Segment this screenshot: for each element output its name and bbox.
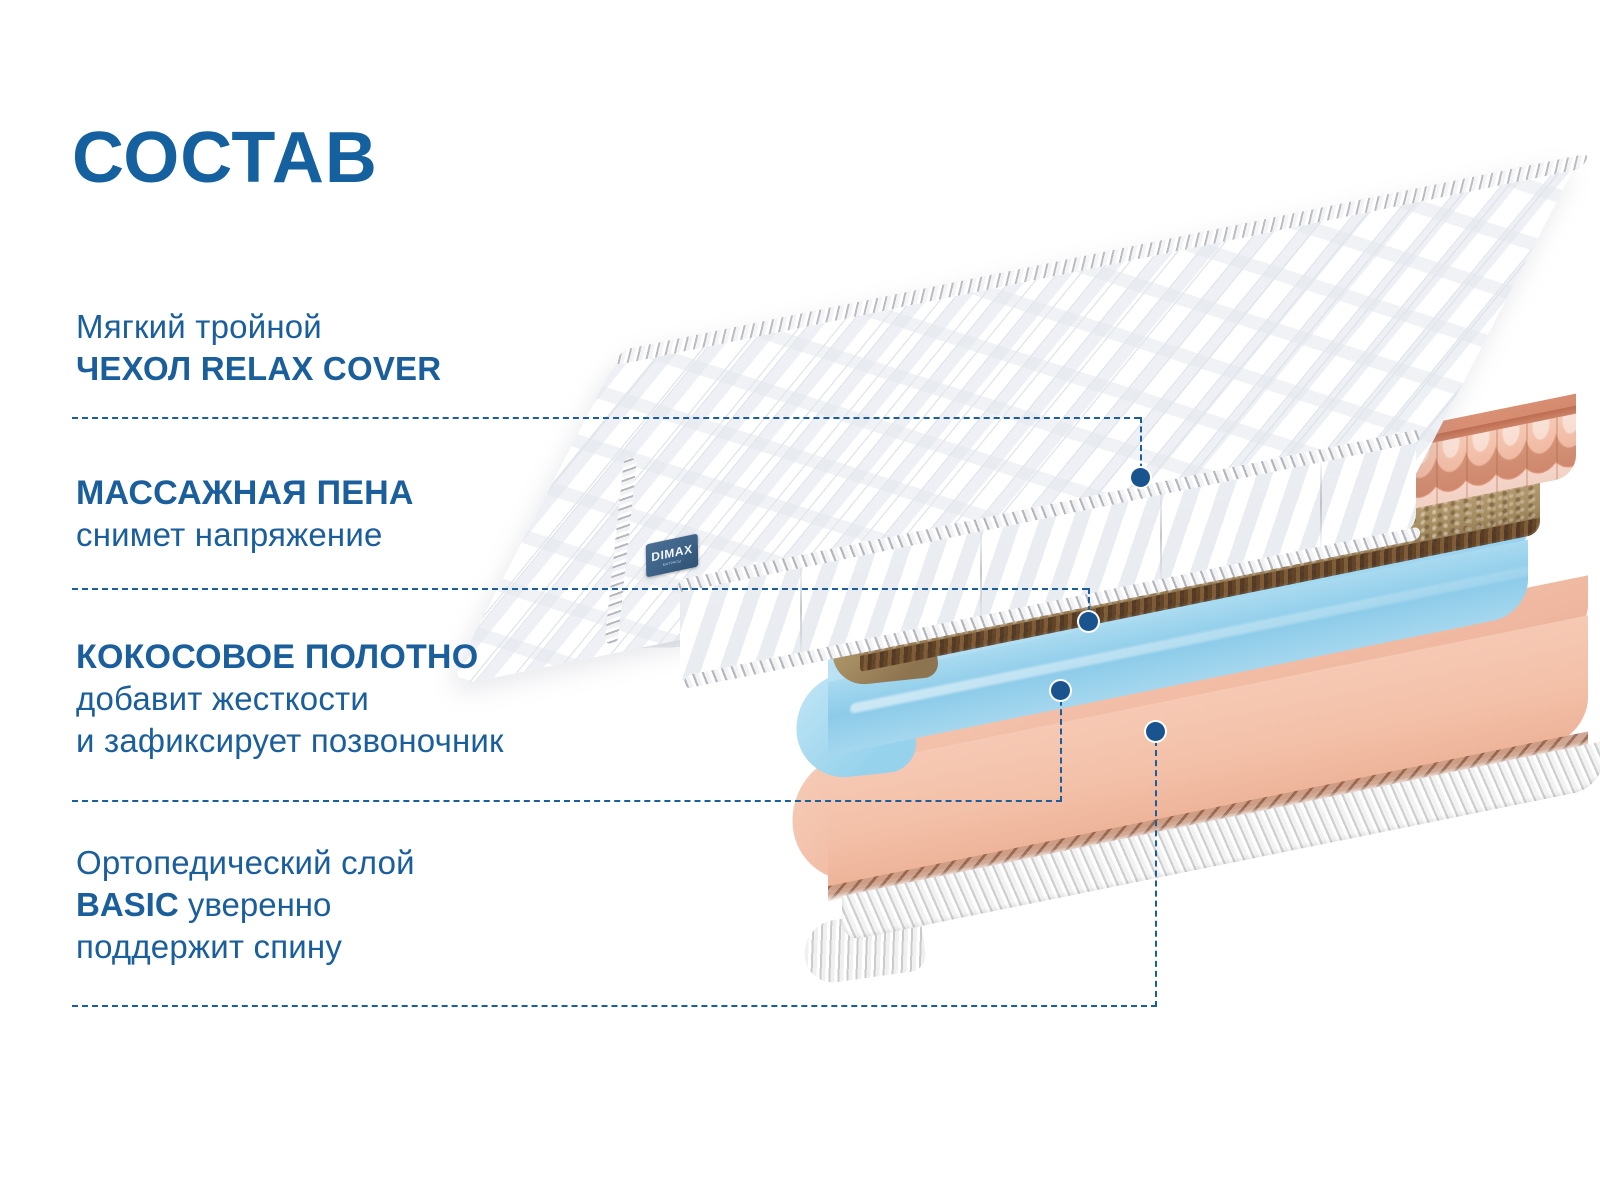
callout-dot-relax-cover <box>1131 468 1150 487</box>
callout-dot-massage-foam <box>1079 612 1098 631</box>
callout-2-line-1: МАССАЖНАЯ ПЕНА <box>76 472 414 514</box>
cover-seam <box>800 561 802 658</box>
callout-2-line-2: снимет напряжение <box>76 514 414 556</box>
callout-1-line-2: ЧЕХОЛ RELAX COVER <box>76 348 441 390</box>
callout-4-line-2-rest: уверенно <box>179 886 332 923</box>
callout-massage-foam: МАССАЖНАЯ ПЕНА снимет напряжение <box>76 472 414 556</box>
callout-dot-coconut <box>1051 681 1070 700</box>
callout-3-line-2: добавит жесткости <box>76 678 504 720</box>
infographic-canvas: СОСТАВ <box>0 0 1600 1200</box>
callout-4-line-3: поддержит спину <box>76 926 415 968</box>
callout-4-line-1: Ортопедический слой <box>76 842 415 884</box>
page-title: СОСТАВ <box>72 122 378 194</box>
callout-3-line-3: и зафиксирует позвоночник <box>76 720 504 762</box>
cover-seam <box>1160 488 1162 585</box>
callout-relax-cover: Мягкий тройной ЧЕХОЛ RELAX COVER <box>76 306 441 390</box>
leader-line-4-horizontal <box>72 1005 1157 1007</box>
leader-line-3-horizontal <box>72 800 1062 802</box>
callout-dot-basic-layer <box>1146 722 1165 741</box>
callout-3-line-1: КОКОСОВОЕ ПОЛОТНО <box>76 636 504 678</box>
callout-4-line-2: BASIC уверенно <box>76 884 415 926</box>
leader-line-2-horizontal <box>72 588 1088 590</box>
cover-seam <box>980 524 982 621</box>
leader-line-1-horizontal <box>72 417 1140 419</box>
leader-line-3-vertical <box>1060 690 1062 802</box>
callout-coconut: КОКОСОВОЕ ПОЛОТНО добавит жесткости и за… <box>76 636 504 762</box>
callout-1-line-1: Мягкий тройной <box>76 306 441 348</box>
leader-line-4-vertical <box>1155 740 1157 1007</box>
callout-4-bold-term: BASIC <box>76 886 179 923</box>
cover-seam <box>1320 455 1322 552</box>
callout-basic-layer: Ортопедический слой BASIC уверенно подде… <box>76 842 415 968</box>
